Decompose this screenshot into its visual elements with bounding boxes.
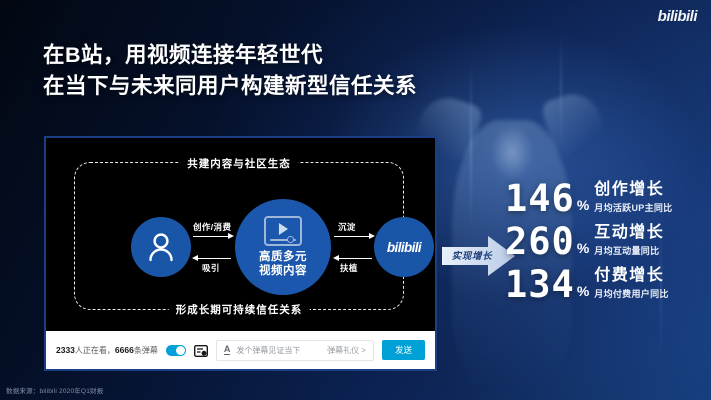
stat-item: 134 % 付费增长 月均付费用户同比: [505, 267, 711, 301]
node-core-content: 高质多元 视频内容: [235, 199, 331, 295]
bilibili-logo: bilibili: [658, 8, 697, 25]
arrow-label-create-consume: 创作/消费: [193, 221, 231, 233]
danmaku-input[interactable]: 发个弹幕见证当下: [236, 345, 321, 356]
node-core-label: 高质多元 视频内容: [259, 250, 307, 278]
headline-line-2: 在当下与未来同用户构建新型信任关系: [43, 71, 417, 102]
stat-item: 260 % 互动增长 月均互动量同比: [505, 224, 711, 258]
send-button[interactable]: 发送: [382, 340, 425, 360]
bilibili-wordmark: bilibili: [387, 240, 421, 255]
growth-callout-label: 实现增长: [448, 248, 496, 262]
stat-title: 互动增长: [594, 224, 664, 241]
stat-value: 260: [505, 225, 575, 258]
glow-streak: [470, 60, 472, 230]
core-label-line-1: 高质多元: [259, 250, 307, 264]
stat-unit: %: [577, 283, 589, 299]
stat-subtitle: 月均付费用户同比: [594, 287, 668, 300]
danmaku-settings-icon[interactable]: [194, 344, 208, 356]
stat-subtitle: 月均互动量同比: [594, 244, 664, 257]
player-screenshot-panel: 共建内容与社区生态 形成长期可持续信任关系: [44, 136, 437, 371]
danmu-count-suffix: 条弹幕: [134, 346, 158, 355]
user-icon: [146, 231, 176, 263]
player-area: 共建内容与社区生态 形成长期可持续信任关系: [46, 138, 435, 333]
danmaku-toggle[interactable]: [166, 345, 186, 356]
page-title: 在B站，用视频连接年轻世代 在当下与未来同用户构建新型信任关系: [43, 40, 417, 101]
slide-root: bilibili 在B站，用视频连接年轻世代 在当下与未来同用户构建新型信任关系…: [0, 0, 711, 400]
data-source-note: 数据来源：bilibili 2020年Q1财报: [6, 385, 103, 395]
stat-value: 134: [505, 268, 575, 301]
core-label-line-2: 视频内容: [259, 264, 307, 278]
stat-item: 146 % 创作增长 月均活跃UP主同比: [505, 181, 711, 215]
video-play-icon: [264, 216, 302, 246]
ecosystem-dashed-frame: 共建内容与社区生态 形成长期可持续信任关系: [74, 162, 404, 310]
viewer-count: 2333: [56, 345, 75, 355]
dashed-frame-bottom-label: 形成长期可持续信任关系: [169, 302, 310, 317]
dashed-frame-top-label: 共建内容与社区生态: [180, 156, 298, 171]
arrow-label-support: 扶植: [340, 262, 358, 274]
stats-list: 146 % 创作增长 月均活跃UP主同比 260 % 互动增长 月均互动量同比 …: [505, 181, 711, 310]
stat-title: 创作增长: [594, 181, 664, 198]
node-bilibili: bilibili: [374, 217, 434, 277]
stat-unit: %: [577, 240, 589, 256]
stat-subtitle: 月均活跃UP主同比: [594, 201, 672, 214]
headline-line-1: 在B站，用视频连接年轻世代: [43, 40, 417, 71]
arrow-label-accumulate: 沉淀: [338, 221, 356, 233]
stat-unit: %: [577, 197, 589, 213]
viewer-stats: 2333人正在看，6666条弹幕: [56, 345, 158, 356]
viewer-count-suffix: 人正在看，: [75, 346, 115, 355]
danmaku-bar: 2333人正在看，6666条弹幕 A 发个弹幕见证当下 弹幕礼仪 > 发送: [46, 331, 435, 369]
danmu-count: 6666: [115, 345, 134, 355]
danmaku-etiquette-link[interactable]: 弹幕礼仪 >: [327, 345, 366, 356]
stat-value: 146: [505, 182, 575, 215]
node-user: [131, 217, 191, 277]
glow-streak: [560, 30, 562, 150]
text-style-icon[interactable]: A: [224, 345, 231, 355]
arrow-label-attract: 吸引: [202, 262, 220, 274]
stat-title: 付费增长: [594, 267, 664, 284]
danmaku-input-wrap[interactable]: A 发个弹幕见证当下 弹幕礼仪 >: [216, 340, 374, 361]
